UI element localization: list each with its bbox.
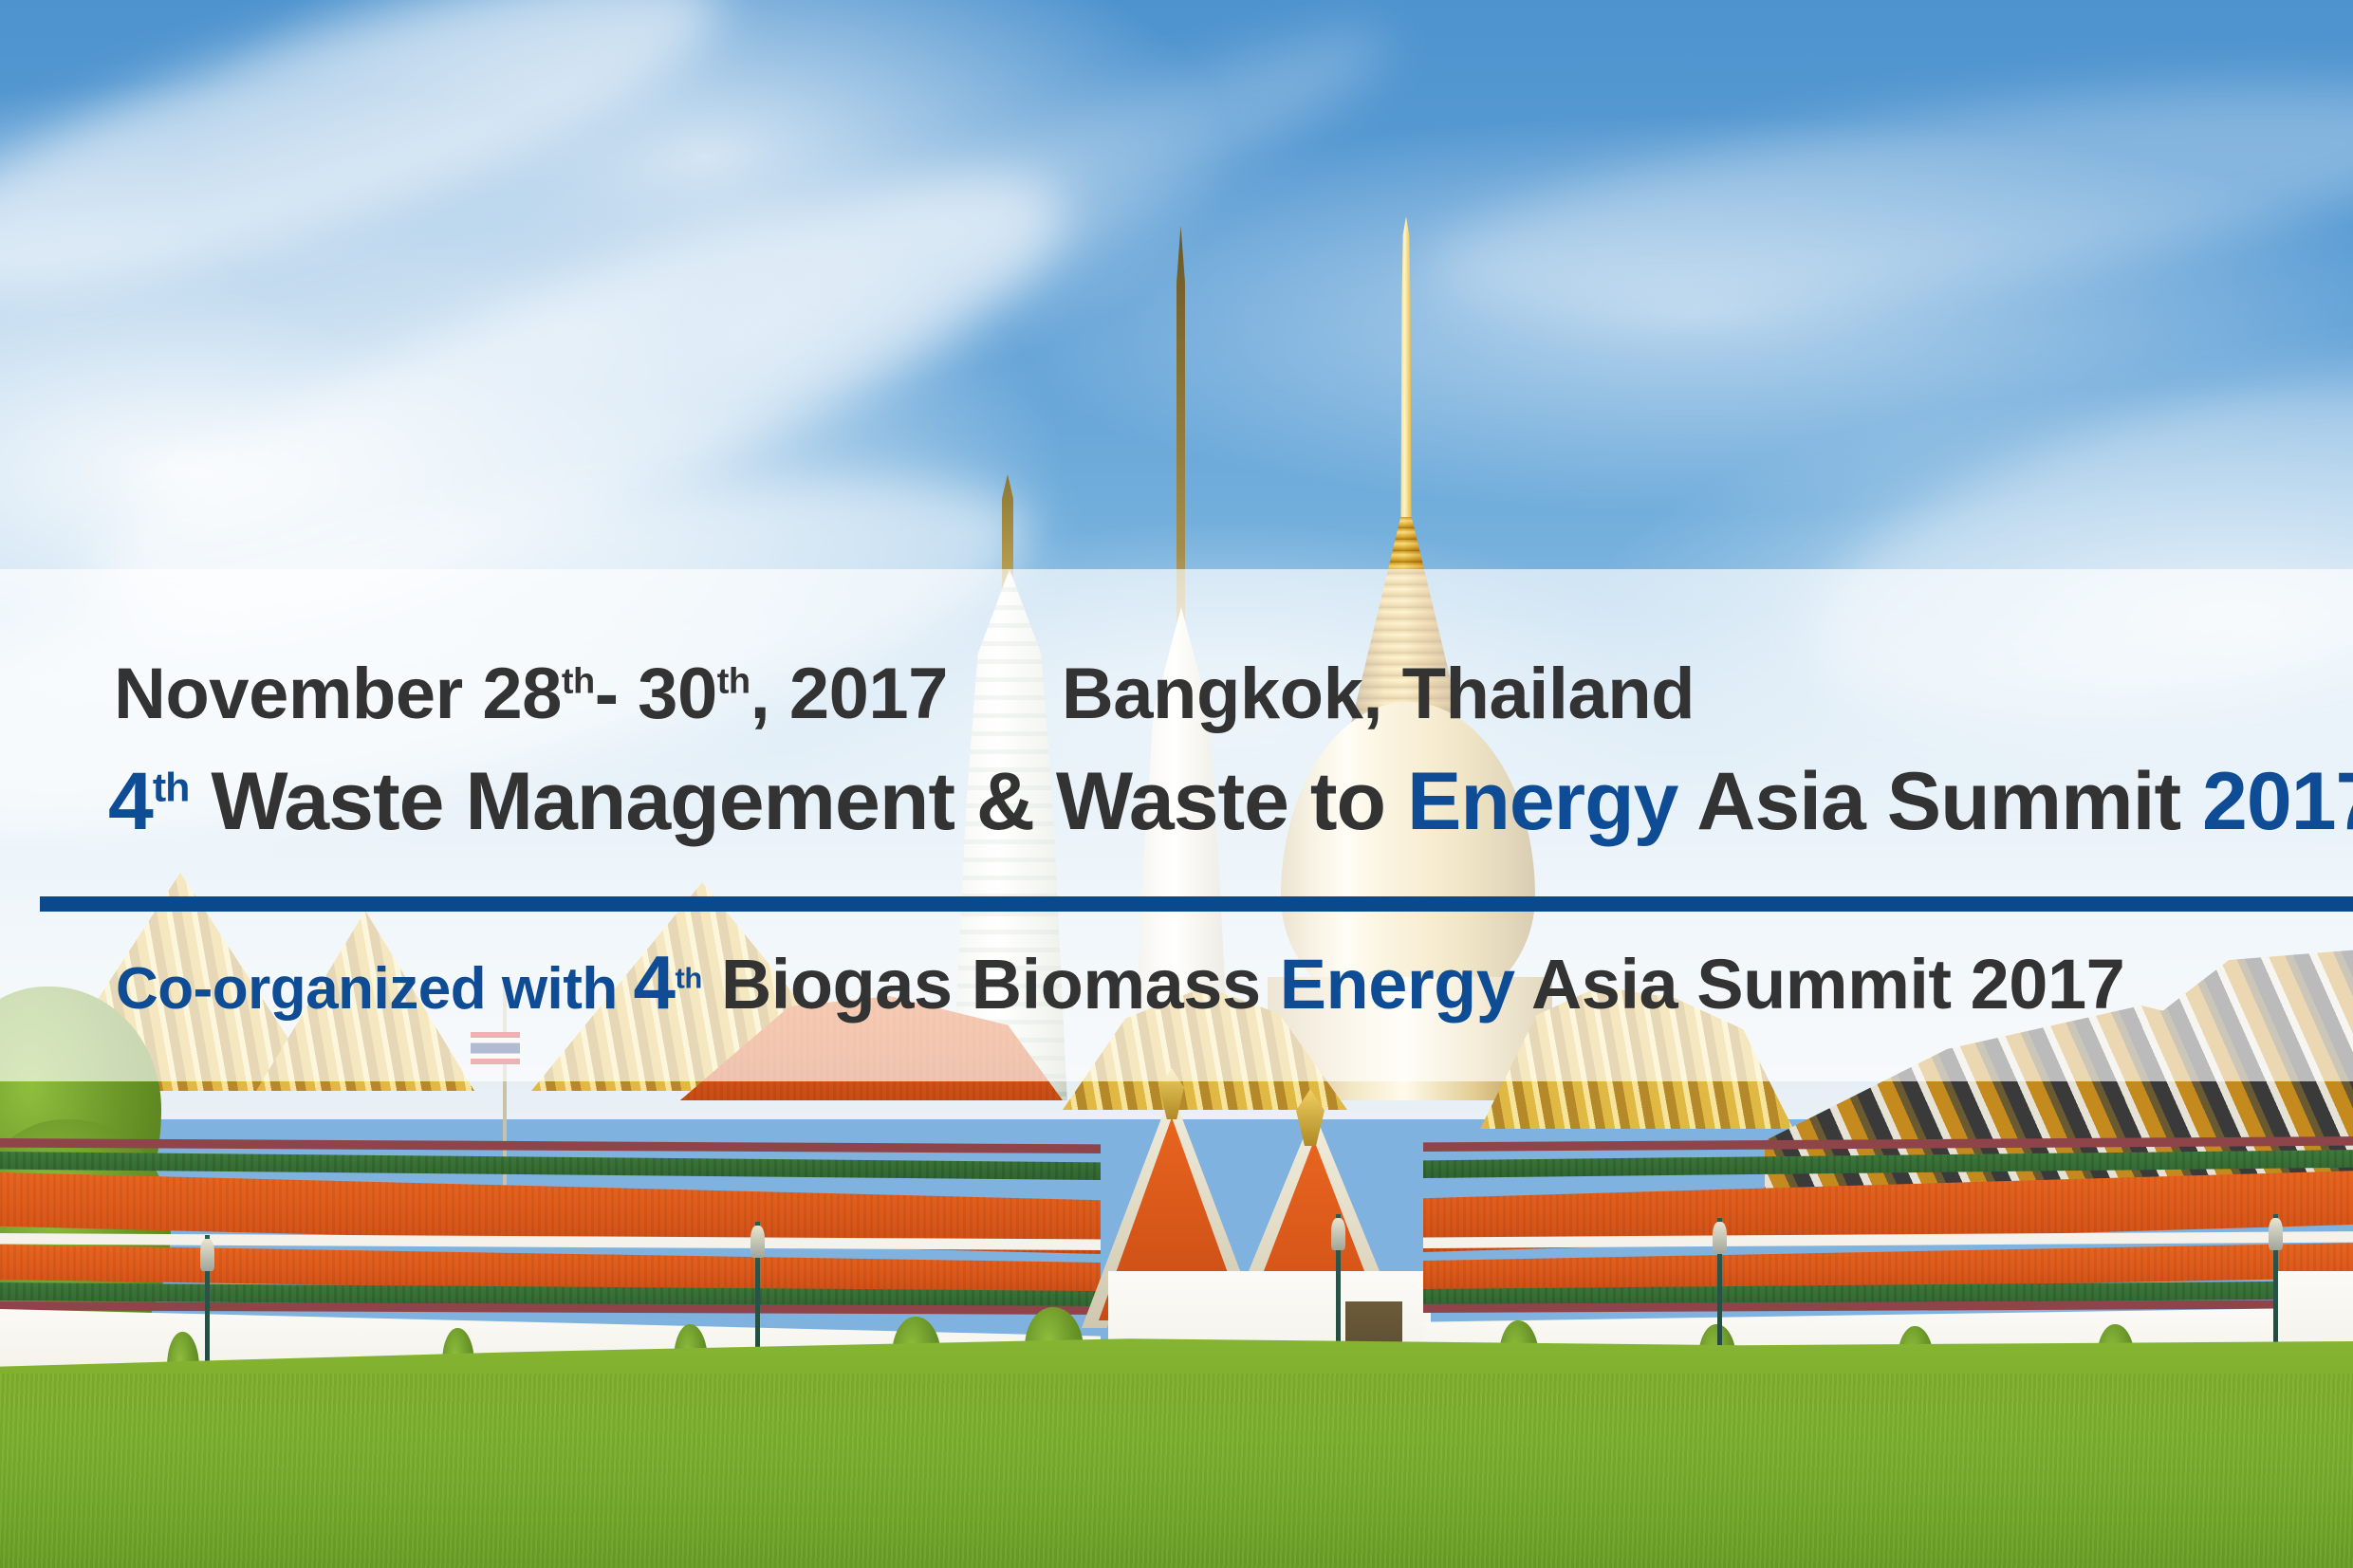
title-part-1: Waste Management & Waste to xyxy=(189,756,1407,847)
banner-text-layer: November 28th- 30th, 2017Bangkok, Thaila… xyxy=(0,569,2353,1081)
event-year: , 2017 xyxy=(750,654,948,734)
lamp-head xyxy=(1331,1218,1345,1250)
subtitle-prefix: Co-organized with xyxy=(116,956,634,1022)
title-highlight-year: 2017 xyxy=(2202,756,2353,847)
subtitle-part-1: Biogas Biomass xyxy=(702,945,1280,1024)
lamp-head xyxy=(1713,1222,1727,1254)
lamp-head xyxy=(200,1239,214,1271)
lawn xyxy=(0,1374,2353,1568)
lamp-head xyxy=(2269,1218,2283,1250)
event-day-start: 28 xyxy=(482,654,562,734)
golden-chedi-spire xyxy=(1393,216,1419,529)
lamp-head xyxy=(750,1226,765,1258)
event-day-end: 30 xyxy=(638,654,717,734)
title-edition-number: 4 xyxy=(108,756,153,847)
title-highlight-energy: Energy xyxy=(1407,756,1678,847)
co-organized-line: Co-organized with 4th Biogas Biomass Ene… xyxy=(116,939,2124,1026)
event-day-end-ordinal: th xyxy=(717,662,750,702)
subtitle-highlight-energy: Energy xyxy=(1280,945,1515,1024)
subtitle-edition-ordinal: th xyxy=(676,961,702,994)
blue-divider-rule xyxy=(40,896,2353,912)
roof-green-upper-left xyxy=(0,1152,1101,1180)
event-location: Bangkok, Thailand xyxy=(1062,654,1695,734)
conference-banner: November 28th- 30th, 2017Bangkok, Thaila… xyxy=(0,0,2353,1568)
title-edition-ordinal: th xyxy=(153,765,190,810)
title-part-2: Asia Summit xyxy=(1678,756,2203,847)
event-title-line: 4th Waste Management & Waste to Energy A… xyxy=(108,755,2353,849)
event-date-location-line: November 28th- 30th, 2017Bangkok, Thaila… xyxy=(114,653,1695,735)
roof-trim-left xyxy=(0,1138,1101,1153)
subtitle-part-2: Asia Summit 2017 xyxy=(1515,945,2125,1024)
event-date-dash: - xyxy=(595,654,638,734)
event-day-start-ordinal: th xyxy=(562,662,595,702)
event-month: November xyxy=(114,654,482,734)
subtitle-edition-number: 4 xyxy=(634,940,676,1024)
